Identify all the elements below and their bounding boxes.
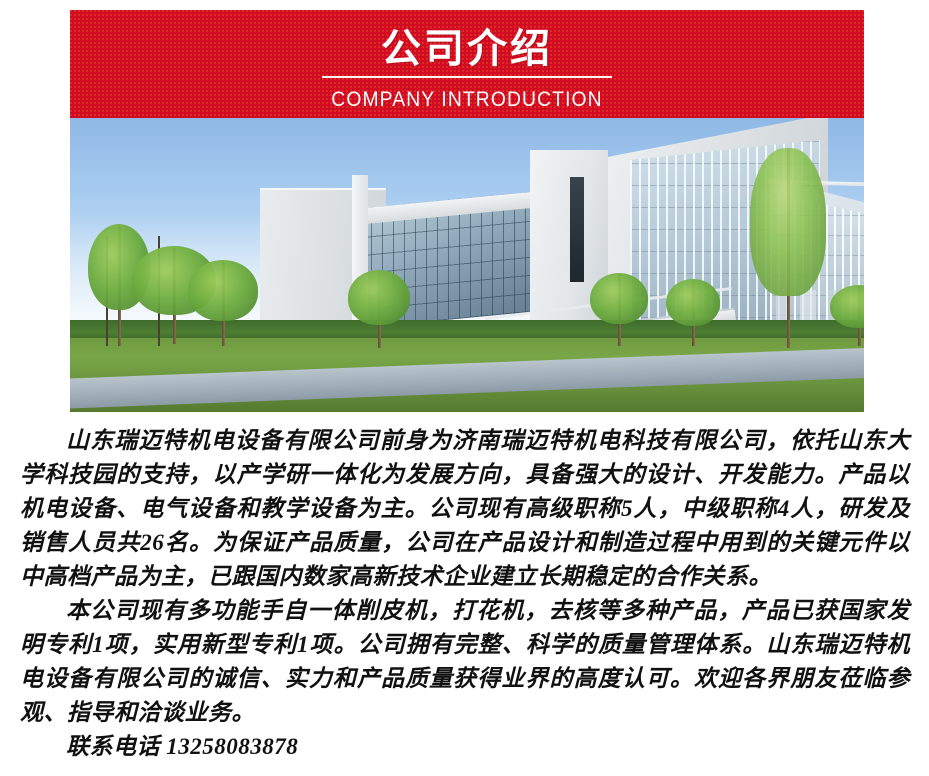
- tree-canopy: [188, 260, 258, 320]
- tree: [666, 280, 720, 346]
- tree-canopy: [750, 148, 826, 296]
- page-subtitle: COMPANY INTRODUCTION: [102, 88, 832, 112]
- description-paragraph-1: 山东瑞迈特机电设备有限公司前身为济南瑞迈特机电科技有限公司，依托山东大学科技园的…: [20, 424, 910, 594]
- company-description: 山东瑞迈特机电设备有限公司前身为济南瑞迈特机电科技有限公司，依托山东大学科技园的…: [20, 424, 910, 764]
- tree: [590, 274, 648, 346]
- company-building-photo: [70, 118, 864, 412]
- contact-phone-line: 联系电话 13258083878: [20, 730, 910, 764]
- page-title: 公司介绍: [70, 26, 864, 72]
- tree: [188, 262, 258, 346]
- title-divider: [322, 76, 612, 78]
- tree-foreground: [750, 148, 826, 348]
- tree-canopy: [348, 270, 410, 325]
- tree-canopy: [830, 285, 864, 328]
- tree-canopy: [590, 273, 648, 325]
- tree-canopy: [666, 279, 720, 327]
- description-paragraph-2: 本公司现有多功能手自一体削皮机，打花机，去核等多种产品，产品已获国家发明专利1项…: [20, 594, 910, 730]
- company-intro-banner: 公司介绍 COMPANY INTRODUCTION: [70, 10, 864, 118]
- tree: [830, 286, 864, 346]
- tree: [348, 272, 410, 348]
- building-mid-recess: [570, 177, 584, 282]
